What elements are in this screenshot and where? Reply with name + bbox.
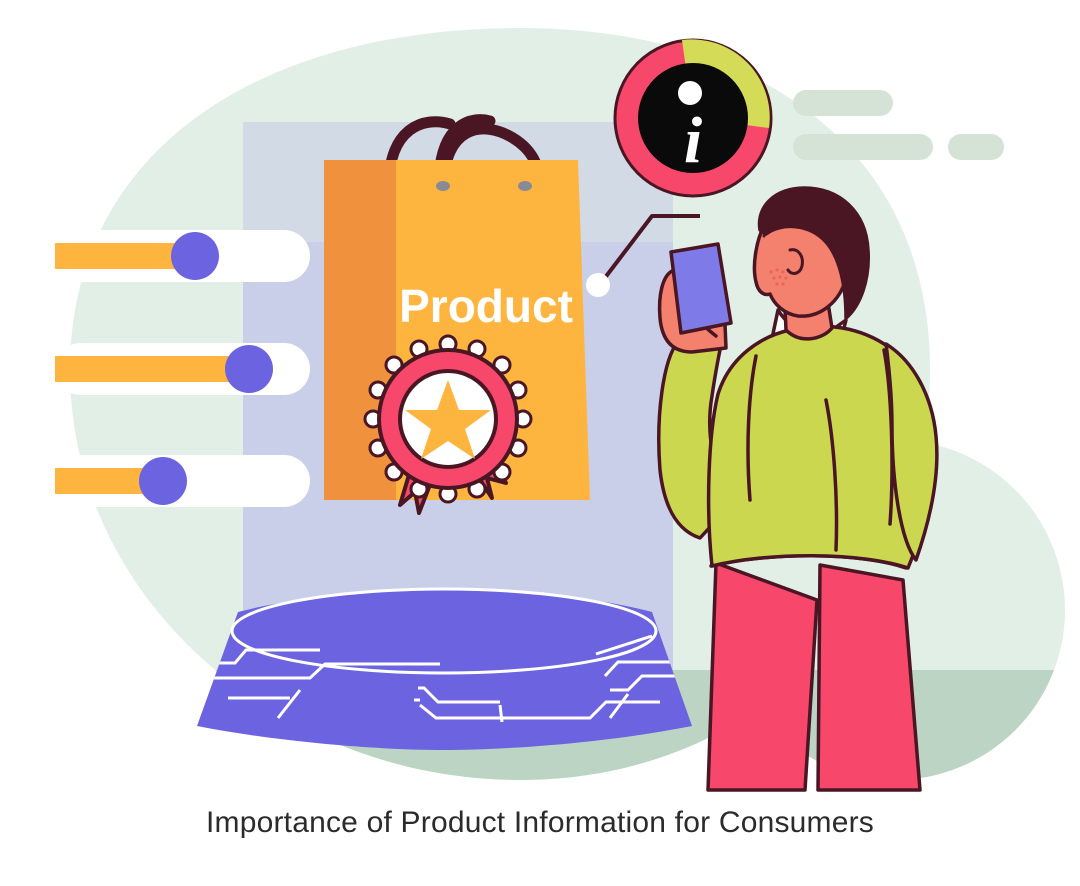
slider-three-thumb[interactable] [139,457,187,505]
slider-three[interactable] [55,455,310,507]
slider-two[interactable] [55,343,310,395]
page-title: Importance of Product Information for Co… [0,806,1080,840]
product-pedestal [197,589,692,750]
bag-product-label: Product [399,280,573,332]
bag-grommet-right [518,181,532,191]
slider-one[interactable] [55,230,310,282]
slider-group [55,230,310,507]
placeholder-bar-row2-a [793,134,933,160]
person-trouser-left [708,563,817,790]
placeholder-bar-row2-b [948,134,1004,160]
person-trouser-right [818,565,920,790]
info-icon-dot [678,81,702,105]
info-icon-stem: i [684,104,703,177]
callout-dot [586,273,610,297]
bag-grommet-left [436,181,450,191]
illustration-stage: Product [0,0,1080,886]
slider-two-track [55,356,254,382]
slider-two-thumb[interactable] [225,345,273,393]
placeholder-bar-row1-a [793,90,893,116]
slider-one-thumb[interactable] [171,232,219,280]
product-information-illustration: Product [0,0,1080,886]
info-badge[interactable]: i [615,39,771,196]
